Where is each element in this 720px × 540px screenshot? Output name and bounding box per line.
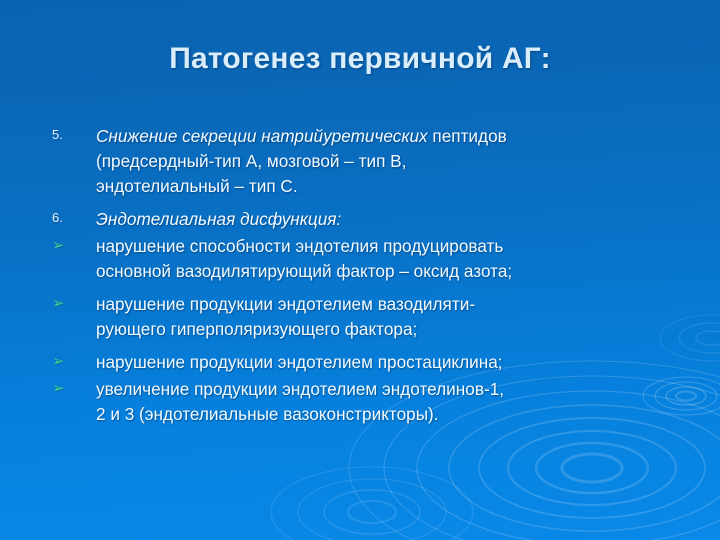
slide-canvas: Патогенез первичной АГ: 5.Снижение секре… xyxy=(0,0,720,540)
list-item: ➢нарушение способности эндотелия продуци… xyxy=(52,234,692,284)
list-item-text: нарушение продукции эндотелием вазодилят… xyxy=(96,292,692,342)
list-item-text: нарушение способности эндотелия продуцир… xyxy=(96,234,692,284)
list-item-text: нарушение продукции эндотелием простацик… xyxy=(96,350,692,375)
text-run: нарушение способности эндотелия продуцир… xyxy=(96,236,503,256)
text-run: нарушение продукции эндотелием простацик… xyxy=(96,352,503,372)
list-item: ➢увеличение продукции эндотелием эндотел… xyxy=(52,377,692,427)
list-item-line: нарушение продукции эндотелием простацик… xyxy=(96,350,692,375)
arrow-bullet-icon: ➢ xyxy=(52,350,96,369)
text-run: рующего гиперполяризующего фактора; xyxy=(96,319,417,339)
text-run: пептидов xyxy=(432,126,506,146)
arrow-bullet-icon: ➢ xyxy=(52,234,96,253)
text-run: Эндотелиальная дисфункция: xyxy=(96,209,341,229)
list-item: 5.Снижение секреции натрийуретических пе… xyxy=(52,124,692,199)
list-item-line: Снижение секреции натрийуретических пепт… xyxy=(96,124,692,149)
slide-body-list: 5.Снижение секреции натрийуретических пе… xyxy=(52,124,692,435)
list-item-line: (предсердный-тип А, мозговой – тип В, xyxy=(96,149,692,174)
list-item-line: нарушение продукции эндотелием вазодилят… xyxy=(96,292,692,317)
list-item: ➢нарушение продукции эндотелием простаци… xyxy=(52,350,692,375)
list-item-text: Эндотелиальная дисфункция: xyxy=(96,207,692,232)
list-item-line: увеличение продукции эндотелием эндотели… xyxy=(96,377,692,402)
text-run: Снижение секреции натрийуретических xyxy=(96,126,432,146)
list-item-line: основной вазодилятирующий фактор – оксид… xyxy=(96,259,692,284)
text-run: нарушение продукции эндотелием вазодилят… xyxy=(96,294,475,314)
arrow-bullet-icon: ➢ xyxy=(52,377,96,396)
arrow-bullet-icon: ➢ xyxy=(52,292,96,311)
text-run: (предсердный-тип А, мозговой – тип В, xyxy=(96,151,406,171)
list-number-marker: 6. xyxy=(52,207,96,224)
list-item-text: увеличение продукции эндотелием эндотели… xyxy=(96,377,692,427)
list-item: ➢нарушение продукции эндотелием вазодиля… xyxy=(52,292,692,342)
list-number-marker: 5. xyxy=(52,124,96,141)
slide-title: Патогенез первичной АГ: xyxy=(0,42,720,76)
list-item: 6.Эндотелиальная дисфункция: xyxy=(52,207,692,232)
list-item-line: нарушение способности эндотелия продуцир… xyxy=(96,234,692,259)
list-item-text: Снижение секреции натрийуретических пепт… xyxy=(96,124,692,199)
text-run: 2 и 3 (эндотелиальные вазоконстрикторы). xyxy=(96,404,439,424)
text-run: основной вазодилятирующий фактор – оксид… xyxy=(96,261,512,281)
list-item-line: эндотелиальный – тип С. xyxy=(96,174,692,199)
text-run: эндотелиальный – тип С. xyxy=(96,176,298,196)
list-item-line: 2 и 3 (эндотелиальные вазоконстрикторы). xyxy=(96,402,692,427)
list-item-line: Эндотелиальная дисфункция: xyxy=(96,207,692,232)
text-run: увеличение продукции эндотелием эндотели… xyxy=(96,379,504,399)
list-item-line: рующего гиперполяризующего фактора; xyxy=(96,317,692,342)
